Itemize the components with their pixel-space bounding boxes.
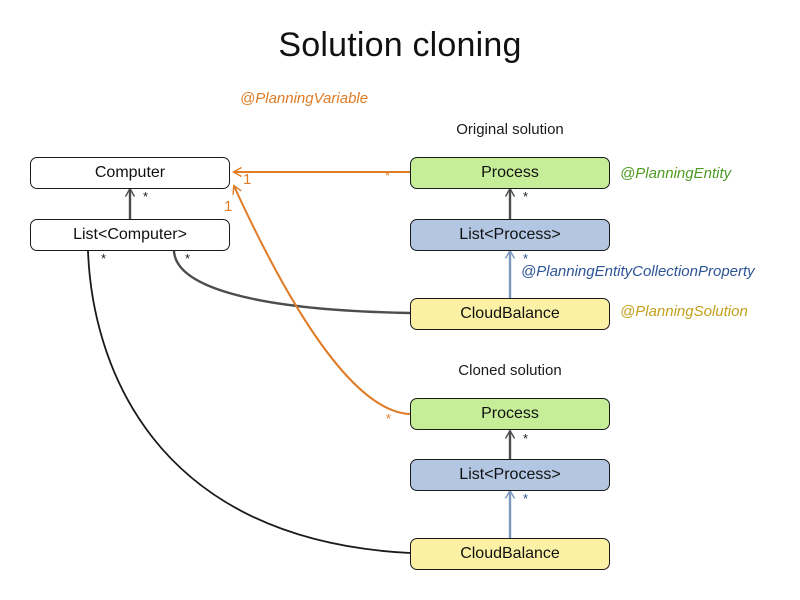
multiplicity-listcomputer-left: *	[101, 252, 106, 265]
annotation-planning-variable: @PlanningVariable	[240, 90, 368, 107]
multiplicity-process-cloned-star: *	[386, 412, 391, 425]
multiplicity-listprocess-cloned-cloudbalance: *	[523, 492, 528, 505]
multiplicity-computer-from-process-original: 1	[243, 172, 251, 187]
page-title: Solution cloning	[0, 26, 800, 65]
section-label-original-solution: Original solution	[410, 121, 610, 138]
edge-cloudbalance-original-to-listcomputer	[174, 251, 410, 313]
multiplicity-computer-listcomputer: *	[143, 190, 148, 203]
annotation-planning-solution: @PlanningSolution	[620, 303, 748, 320]
node-process-original[interactable]: Process	[410, 157, 610, 189]
multiplicity-process-original-star: *	[385, 169, 390, 182]
node-computer[interactable]: Computer	[30, 157, 230, 189]
multiplicity-computer-from-process-cloned: 1	[224, 199, 232, 214]
node-process-cloned[interactable]: Process	[410, 398, 610, 430]
annotation-planning-entity-collection-property: @PlanningEntityCollectionProperty	[521, 263, 755, 280]
connector-layer: Computer : orange straight --> Computer …	[0, 0, 800, 600]
node-list-process-original[interactable]: List<Process>	[410, 219, 610, 251]
diagram-canvas: Computer : orange straight --> Computer …	[0, 0, 800, 600]
multiplicity-process-original-listprocess: *	[523, 190, 528, 203]
node-cloudbalance-cloned[interactable]: CloudBalance	[410, 538, 610, 570]
edge-cloudbalance-cloned-to-listcomputer	[88, 251, 410, 553]
annotation-planning-entity: @PlanningEntity	[620, 165, 731, 182]
node-cloudbalance-original[interactable]: CloudBalance	[410, 298, 610, 330]
section-label-cloned-solution: Cloned solution	[410, 362, 610, 379]
node-list-computer[interactable]: List<Computer>	[30, 219, 230, 251]
multiplicity-listcomputer-right: *	[185, 252, 190, 265]
multiplicity-process-cloned-listprocess: *	[523, 432, 528, 445]
edge-process-cloned-to-computer	[234, 186, 410, 414]
multiplicity-listprocess-original-cloudbalance: *	[523, 252, 528, 265]
node-list-process-cloned[interactable]: List<Process>	[410, 459, 610, 491]
